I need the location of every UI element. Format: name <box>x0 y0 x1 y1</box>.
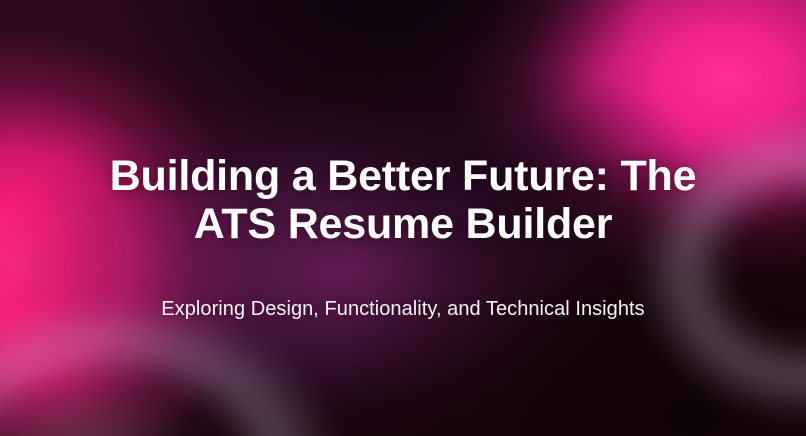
title-slide: Building a Better Future: The ATS Resume… <box>0 0 806 436</box>
page-title: Building a Better Future: The ATS Resume… <box>0 152 806 248</box>
slide-content: Building a Better Future: The ATS Resume… <box>0 0 806 436</box>
page-subtitle: Exploring Design, Functionality, and Tec… <box>0 296 806 322</box>
